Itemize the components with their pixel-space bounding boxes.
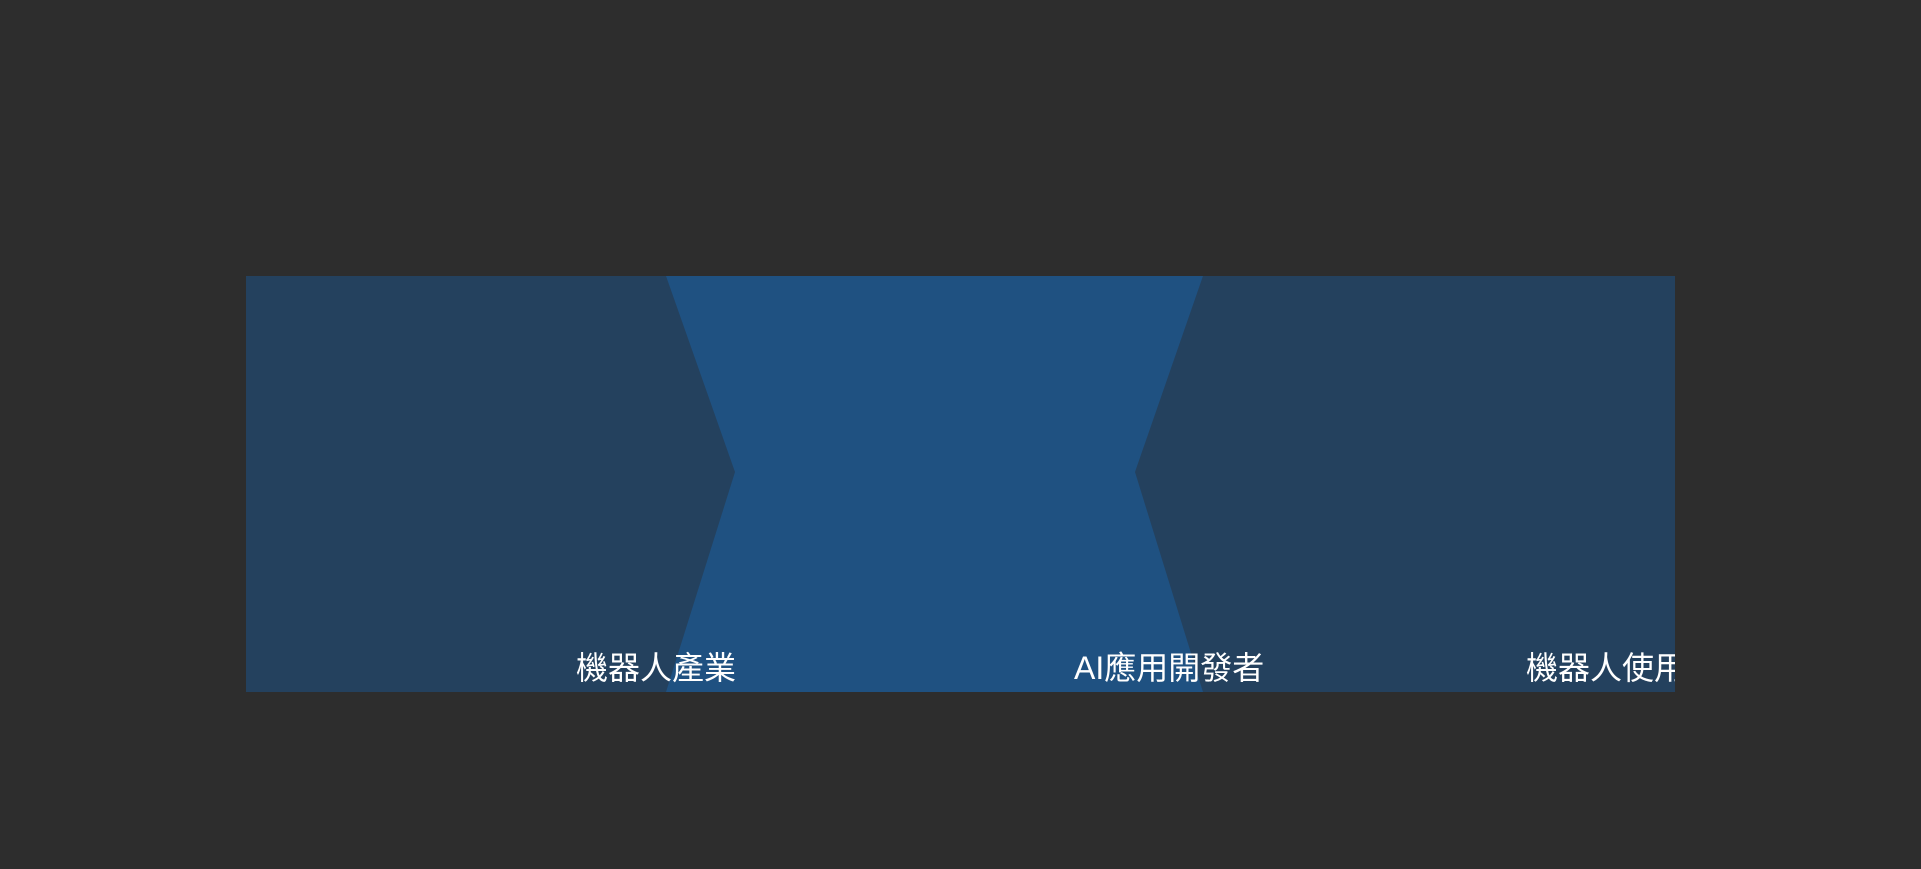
- chevron-accent-shape: [246, 276, 1675, 692]
- column-title: 機器人產業: [576, 648, 736, 688]
- slide-canvas: 機器人產業 面向機器人未來架構 機器人AI服務平臺 機器人虛擬數字孿生世界 AI…: [0, 0, 1921, 869]
- column-title: 機器人使用者: [1526, 648, 1675, 688]
- chevron-banner: 機器人產業 面向機器人未來架構 機器人AI服務平臺 機器人虛擬數字孿生世界 AI…: [246, 276, 1675, 692]
- column-title: AI應用開發者: [1074, 648, 1264, 688]
